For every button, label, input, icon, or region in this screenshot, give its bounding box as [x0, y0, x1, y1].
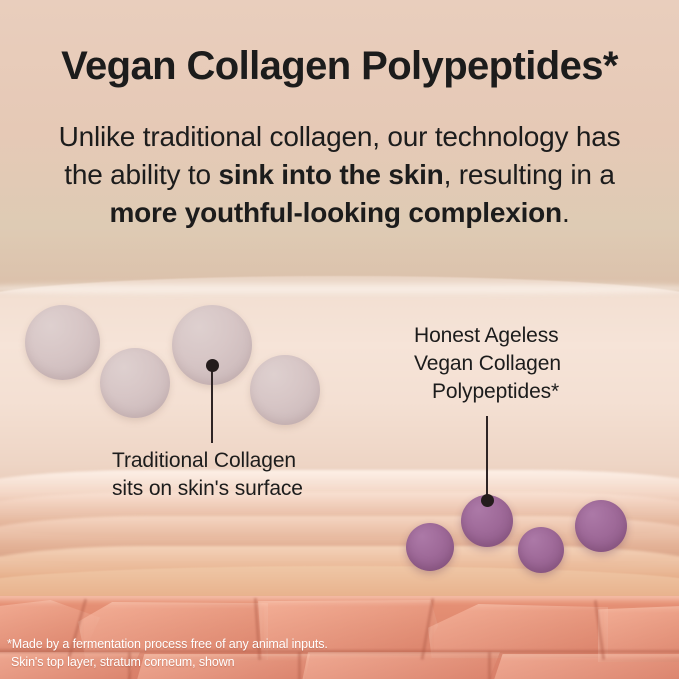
leader-line-traditional [211, 371, 213, 443]
callout-honest-line-3: Polypeptides* [414, 378, 644, 406]
leader-line-vegan [486, 416, 488, 500]
leader-dot-traditional [206, 359, 219, 372]
callout-traditional-line-1: Traditional Collagen [112, 447, 372, 475]
vegan-polypeptide-particle [518, 527, 564, 573]
skin-surface-highlight [0, 281, 679, 297]
traditional-collagen-particle [250, 355, 320, 425]
callout-traditional-collagen: Traditional Collagen sits on skin's surf… [112, 447, 372, 503]
callout-honest-line-1: Honest Ageless [414, 322, 644, 350]
callout-traditional-line-2: sits on skin's surface [112, 475, 372, 503]
subtitle-line-1: Unlike traditional collagen, our technol… [59, 121, 569, 152]
subtitle-line-3-lead: in a [570, 159, 614, 190]
skin-cell [300, 652, 500, 679]
footnote: *Made by a fermentation process free of … [7, 636, 328, 672]
vegan-polypeptide-particle [406, 523, 454, 571]
traditional-collagen-particle [100, 348, 170, 418]
skin-cell [598, 606, 679, 662]
subtitle-line-3-tail: . [562, 197, 570, 228]
vegan-polypeptide-particle [575, 500, 627, 552]
footnote-line-2: Skin's top layer, stratum corneum, shown [7, 654, 328, 672]
footnote-line-1: *Made by a fermentation process free of … [7, 636, 328, 654]
skin-cell [490, 654, 679, 679]
callout-honest-ageless: Honest Ageless Vegan Collagen Polypeptid… [414, 322, 644, 406]
callout-honest-line-2: Vegan Collagen [414, 350, 644, 378]
subtitle: Unlike traditional collagen, our technol… [50, 118, 629, 232]
infographic-root: Vegan Collagen Polypeptides* Unlike trad… [0, 0, 679, 679]
subtitle-line-2-tail: , resulting [444, 159, 563, 190]
leader-dot-vegan [481, 494, 494, 507]
subtitle-emphasis-complexion: more youthful-looking complexion [109, 197, 562, 228]
subtitle-emphasis-sink: sink into the skin [218, 159, 443, 190]
traditional-collagen-particle [25, 305, 100, 380]
page-title: Vegan Collagen Polypeptides* [0, 44, 679, 89]
cell-seam [488, 652, 491, 679]
